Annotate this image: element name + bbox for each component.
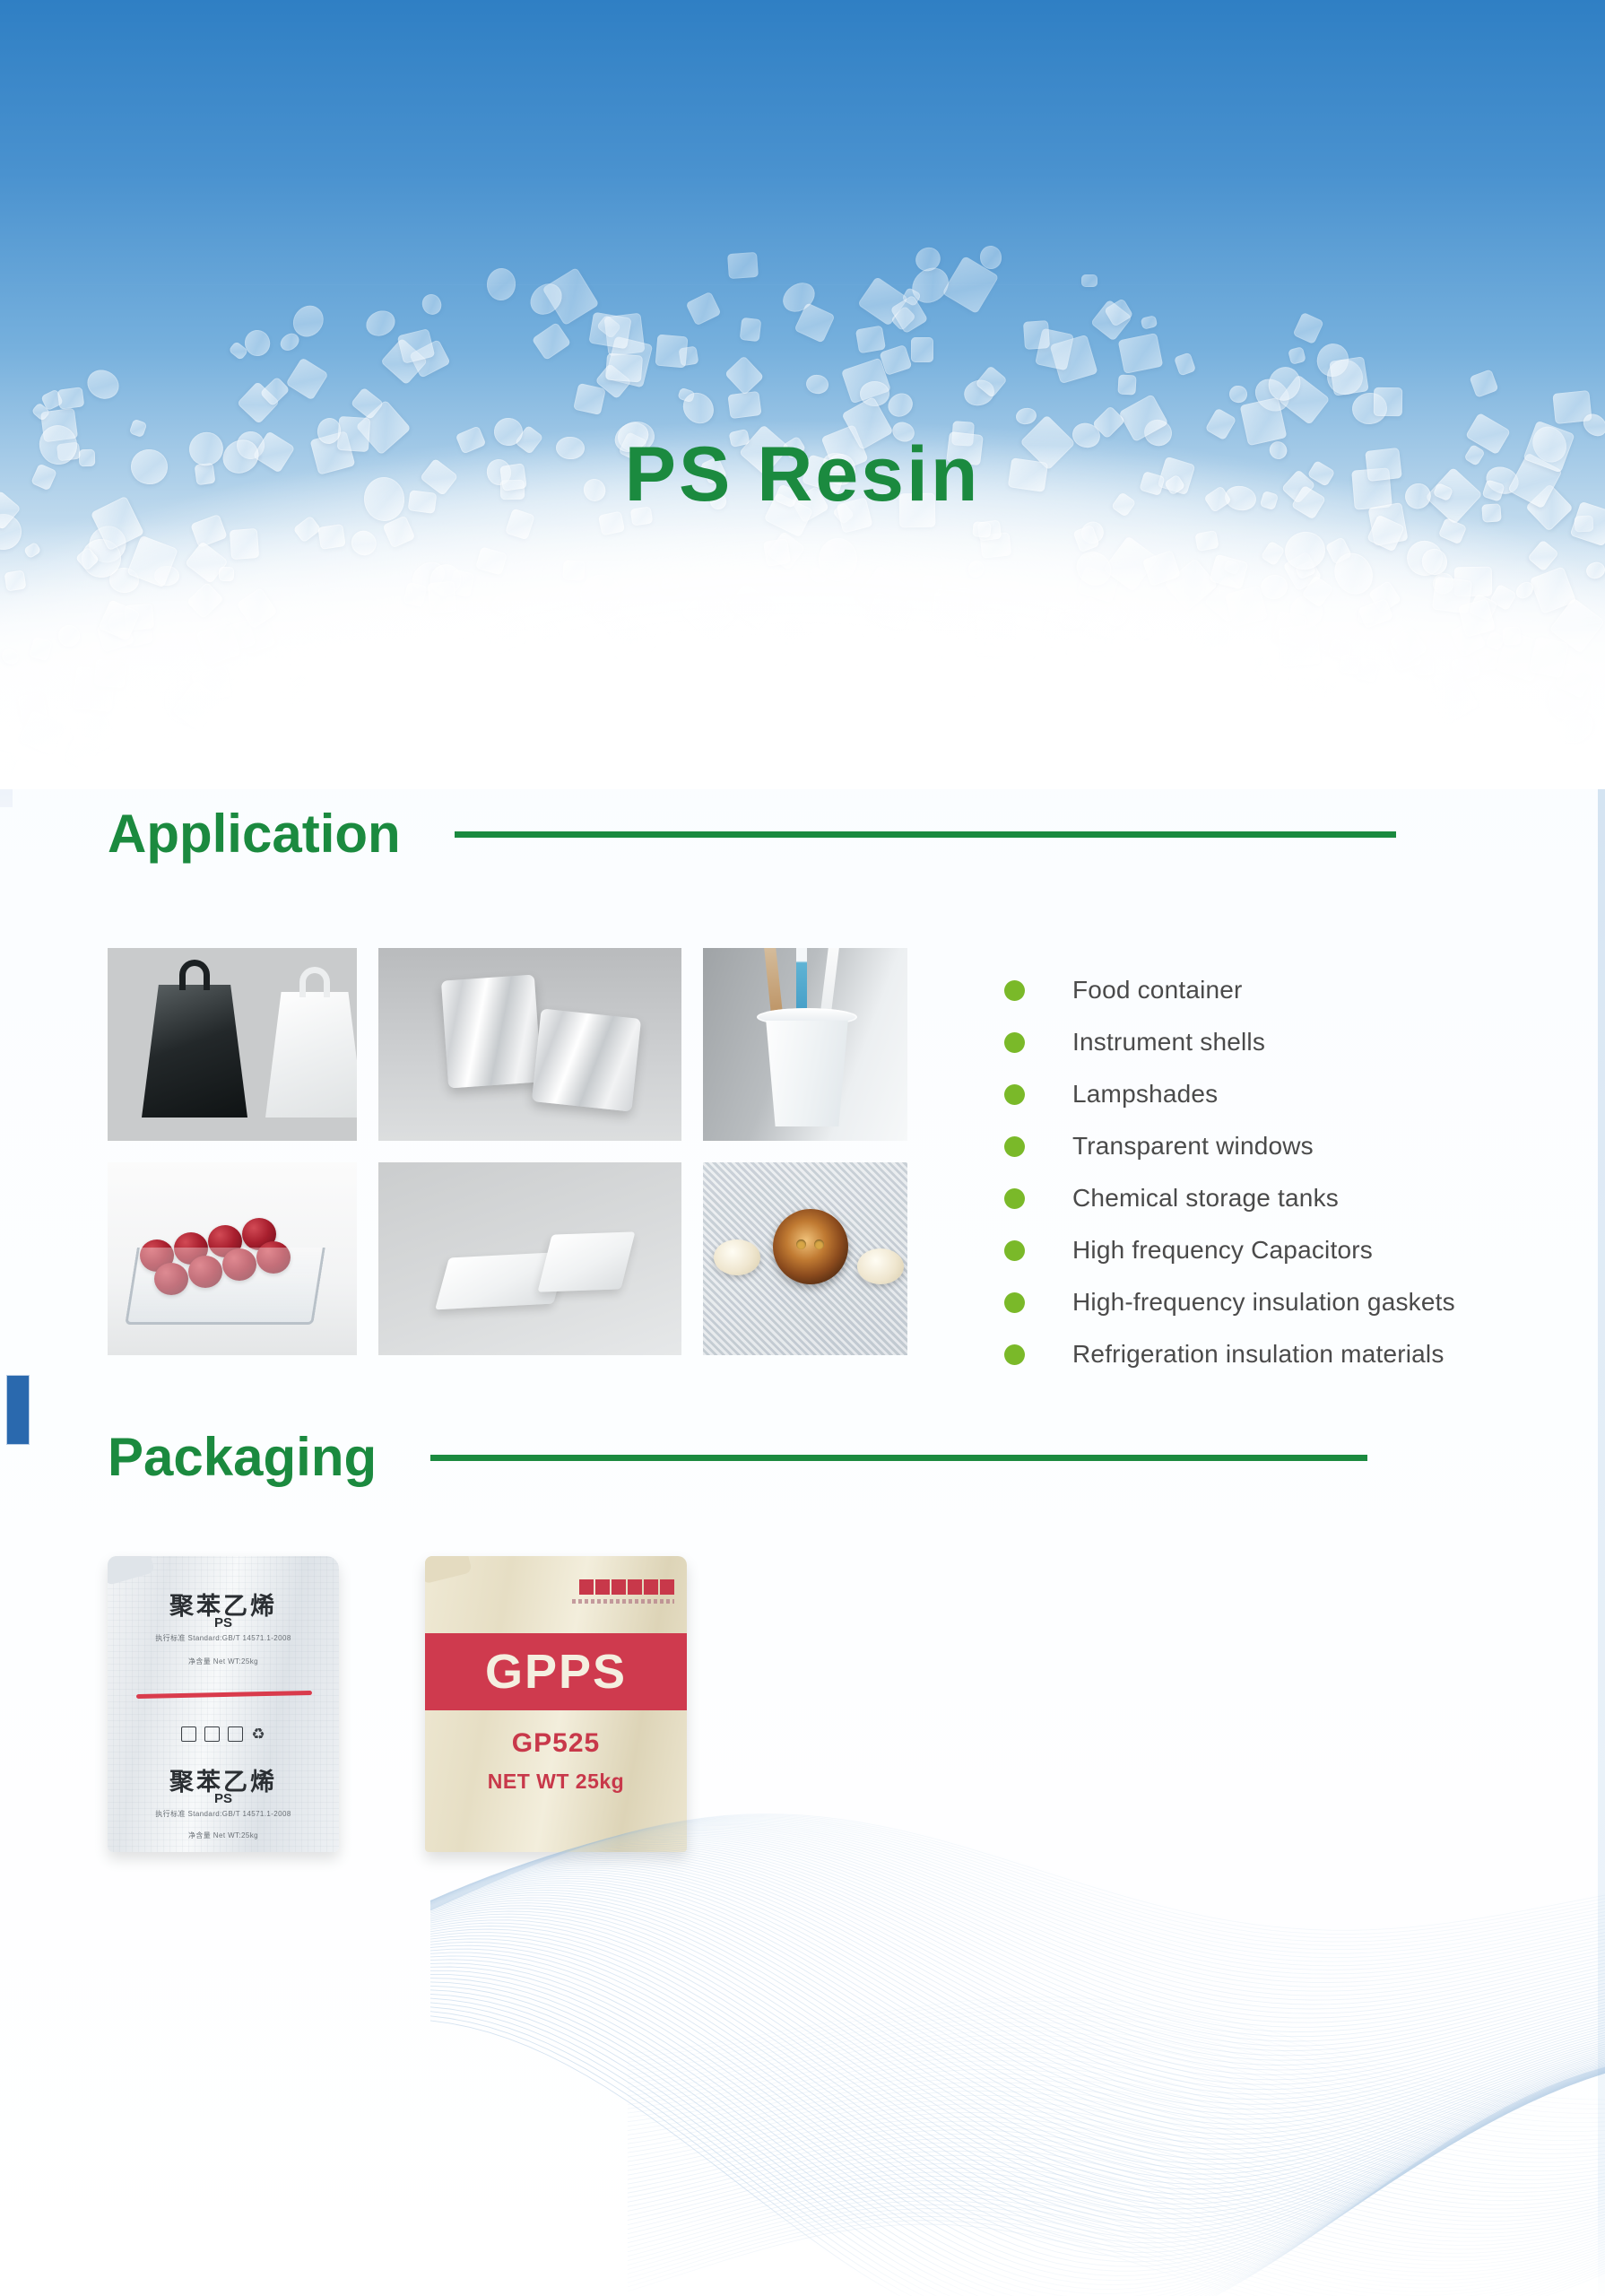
shopping-bag-dark-handle	[179, 960, 210, 990]
wave-line	[430, 1830, 1605, 1996]
ps-bag-handling-marks: ♻	[108, 1726, 339, 1742]
recycle-icon: ♻	[251, 1726, 266, 1742]
wave-line	[430, 1860, 1605, 2094]
ps-bag-netweight-bottom: 净含量 Net WT:25kg	[108, 1831, 339, 1840]
wave-line	[430, 1876, 1605, 2135]
wave-line	[628, 2031, 1605, 2135]
wave-line	[430, 1866, 1605, 2109]
wave-line	[628, 2022, 1605, 2127]
wave-line	[430, 1868, 1605, 2115]
application-bullet-item: High frequency Capacitors	[1004, 1224, 1455, 1276]
application-heading-text: Application	[108, 807, 401, 861]
wave-line	[628, 2078, 1605, 2184]
wave-line	[430, 1898, 1605, 2179]
blue-tab-marker	[6, 1375, 30, 1445]
wave-line	[430, 1848, 1605, 2056]
wave-line	[628, 2044, 1605, 2150]
ps-bag-spec-bottom: 执行标准 Standard:GB/T 14571.1-2008	[108, 1809, 339, 1819]
application-bullet-label: Transparent windows	[1072, 1132, 1314, 1161]
section-heading-packaging: Packaging	[108, 1431, 1506, 1484]
foil-pouch-1	[441, 975, 542, 1089]
wave-line	[430, 1926, 1605, 2229]
wave-line	[430, 1883, 1605, 2150]
wave-line	[430, 1840, 1605, 2032]
wave-line	[430, 1843, 1605, 2041]
wave-line	[628, 2091, 1605, 2196]
wave-line	[628, 2005, 1605, 2109]
application-bullet-item: Lampshades	[1004, 1068, 1455, 1120]
wave-line	[430, 1870, 1605, 2119]
application-bullet-label: Chemical storage tanks	[1072, 1184, 1339, 1213]
wave-line	[628, 2083, 1605, 2188]
clear-plastic-tray	[125, 1248, 325, 1325]
shopping-bag-dark	[142, 985, 247, 1118]
app-image-buttons-fabric	[703, 1162, 907, 1355]
foil-pouch-2	[532, 1008, 641, 1111]
ps-bag-spec-top: 执行标准 Standard:GB/T 14571.1-2008	[108, 1633, 339, 1643]
app-image-shopping-bags	[108, 948, 357, 1141]
hero-bottom-fade	[0, 520, 1605, 789]
wave-line	[430, 1832, 1605, 2005]
gpps-grade-text: GP525	[425, 1728, 687, 1759]
application-bullet-label: High-frequency insulation gaskets	[1072, 1288, 1455, 1317]
application-image-grid	[108, 948, 907, 1355]
gpps-manufacturer-subtext	[572, 1599, 674, 1604]
wave-line	[430, 1846, 1605, 2051]
wave-line	[430, 1920, 1605, 2219]
wave-line	[628, 2057, 1605, 2162]
ps-bag-red-stripe	[136, 1691, 312, 1699]
application-bullet-item: Food container	[1004, 964, 1455, 1016]
application-bullet-label: Food container	[1072, 976, 1243, 1004]
bullet-dot-icon	[1004, 1240, 1025, 1261]
ps-bag-corner-fold	[108, 1556, 155, 1586]
bullet-dot-icon	[1004, 1188, 1025, 1209]
ps-bag-netweight-top: 净含量 Net WT:25kg	[108, 1657, 339, 1666]
brochure-page: PS Resin Application	[0, 0, 1605, 2296]
shopping-bag-light-handle	[299, 967, 330, 997]
app-image-foam-containers	[378, 1162, 681, 1355]
wave-line	[430, 1854, 1605, 2075]
button-cream-right	[857, 1248, 904, 1284]
ps-bag-en-name-top: PS	[108, 1615, 339, 1631]
button-hole-2	[814, 1239, 824, 1249]
wave-line	[628, 2035, 1605, 2141]
wave-line	[430, 1835, 1605, 2013]
wave-line	[430, 1914, 1605, 2209]
application-bullet-list: Food containerInstrument shellsLampshade…	[1004, 964, 1455, 1380]
wave-line	[628, 2069, 1605, 2175]
bullet-dot-icon	[1004, 1084, 1025, 1105]
wave-line	[430, 1839, 1605, 2027]
application-bullet-item: Transparent windows	[1004, 1120, 1455, 1172]
care-mark-icon-3	[228, 1726, 243, 1742]
button-cream-left	[714, 1239, 760, 1275]
application-bullet-label: Refrigeration insulation materials	[1072, 1340, 1444, 1369]
wave-line	[430, 1872, 1605, 2124]
wave-line	[628, 2039, 1605, 2145]
wave-line	[430, 1874, 1605, 2129]
wave-line	[628, 2027, 1605, 2132]
wave-line	[628, 2066, 1605, 2171]
wave-line	[430, 1911, 1605, 2204]
care-mark-icon-1	[181, 1726, 196, 1742]
care-mark-icon-2	[204, 1726, 220, 1742]
wave-line	[430, 1841, 1605, 2037]
application-bullet-item: Refrigeration insulation materials	[1004, 1328, 1455, 1380]
foam-container-2	[538, 1231, 636, 1291]
wave-line	[628, 2013, 1605, 2118]
packaging-bag-row: 聚苯乙烯 PS 执行标准 Standard:GB/T 14571.1-2008 …	[108, 1556, 687, 1852]
wave-line	[430, 1906, 1605, 2195]
wave-line	[430, 1831, 1605, 2000]
bullet-dot-icon	[1004, 1032, 1025, 1053]
wave-line	[628, 2001, 1605, 2104]
app-image-foil-pouches	[378, 948, 681, 1141]
wave-line	[430, 1878, 1605, 2139]
wave-line	[628, 2074, 1605, 2179]
white-cup	[760, 1021, 854, 1126]
gpps-bag-corner-fold	[425, 1556, 473, 1584]
packaging-heading-text: Packaging	[108, 1431, 377, 1484]
packaging-bag-ps: 聚苯乙烯 PS 执行标准 Standard:GB/T 14571.1-2008 …	[108, 1556, 339, 1852]
wave-line	[430, 1865, 1605, 2105]
wave-line	[430, 1923, 1605, 2223]
wave-line	[430, 1844, 1605, 2046]
wave-line	[430, 1895, 1605, 2174]
gpps-net-weight-text: NET WT 25kg	[425, 1770, 687, 1794]
app-image-apple-tray	[108, 1162, 357, 1355]
application-bullet-item: High-frequency insulation gaskets	[1004, 1276, 1455, 1328]
bullet-dot-icon	[1004, 1136, 1025, 1157]
wave-line	[430, 1909, 1605, 2199]
hero-banner: PS Resin	[0, 0, 1605, 789]
wave-line	[628, 2061, 1605, 2167]
wave-line	[430, 1862, 1605, 2099]
wave-line	[628, 2087, 1605, 2193]
wave-line	[430, 1856, 1605, 2080]
application-heading-rule	[455, 831, 1396, 838]
wave-line	[430, 1829, 1605, 1991]
wave-line	[430, 1836, 1605, 2018]
wave-line	[430, 1833, 1605, 2009]
button-tortoiseshell	[773, 1209, 848, 1284]
wave-line	[430, 1857, 1605, 2084]
wave-line	[628, 2052, 1605, 2158]
gpps-brand-text: GPPS	[485, 1644, 627, 1700]
packaging-bag-gpps: GPPS GP525 NET WT 25kg	[425, 1556, 687, 1852]
application-bullet-label: Instrument shells	[1072, 1028, 1265, 1057]
ps-bag-en-name-bottom: PS	[108, 1791, 339, 1806]
wave-line	[430, 1892, 1605, 2169]
wave-line	[430, 1890, 1605, 2164]
button-hole-1	[796, 1239, 806, 1249]
wave-line	[430, 1903, 1605, 2189]
gpps-red-band: GPPS	[425, 1633, 687, 1710]
wave-line	[430, 1852, 1605, 2070]
bottom-white-fade	[0, 2188, 1605, 2296]
wave-line	[430, 1848, 1605, 2060]
packaging-heading-rule	[430, 1455, 1367, 1461]
application-bullet-label: Lampshades	[1072, 1080, 1218, 1109]
ps-pellet	[727, 252, 759, 279]
bullet-dot-icon	[1004, 1344, 1025, 1365]
wave-line	[628, 1997, 1605, 2100]
page-title: PS Resin	[0, 430, 1605, 519]
wave-line	[430, 1917, 1605, 2213]
wave-line	[430, 1881, 1605, 2144]
shopping-bag-light	[265, 992, 357, 1118]
section-heading-application: Application	[108, 807, 1506, 861]
gpps-manufacturer-logo	[579, 1579, 674, 1595]
app-image-toothbrush-cup	[703, 948, 907, 1141]
wave-line	[430, 1850, 1605, 2066]
wave-line	[430, 1900, 1605, 2185]
wave-line	[430, 1838, 1605, 2023]
bullet-dot-icon	[1004, 1292, 1025, 1313]
wave-line	[430, 1885, 1605, 2154]
wave-line	[628, 2095, 1605, 2201]
application-bullet-item: Instrument shells	[1004, 1016, 1455, 1068]
bullet-dot-icon	[1004, 980, 1025, 1001]
wave-line	[628, 2048, 1605, 2153]
wave-line	[628, 2018, 1605, 2122]
application-bullet-label: High frequency Capacitors	[1072, 1236, 1373, 1265]
wave-line	[430, 1888, 1605, 2160]
wave-line	[430, 1858, 1605, 2089]
wave-line	[628, 2010, 1605, 2114]
application-bullet-item: Chemical storage tanks	[1004, 1172, 1455, 1224]
